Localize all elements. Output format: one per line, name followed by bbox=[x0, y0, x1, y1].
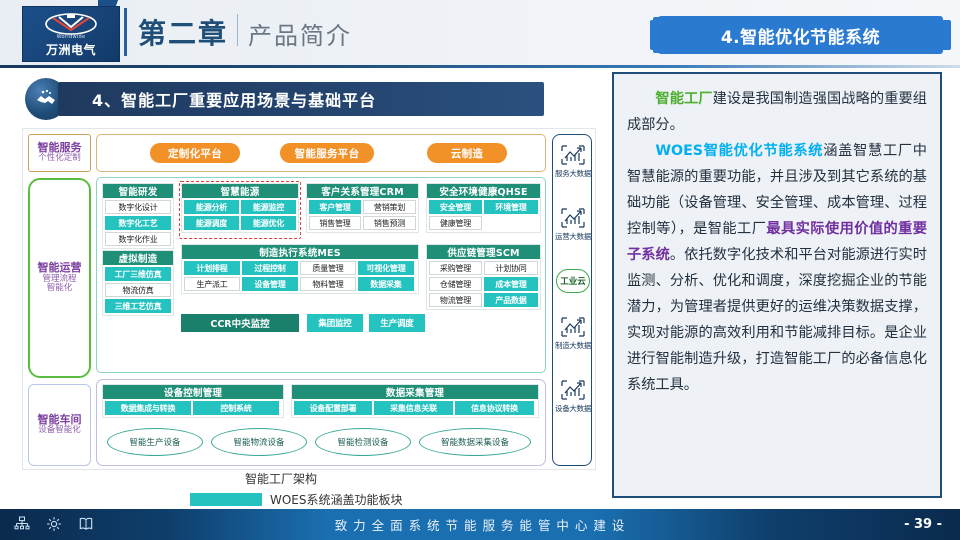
bigdata-label: 制造大数据 bbox=[555, 340, 591, 351]
section-title-label: 4、智能工厂重要应用场景与基础平台 bbox=[58, 87, 376, 111]
card-cell[interactable]: 营销策划 bbox=[363, 200, 416, 214]
equipment-oval-logistics[interactable]: 智能物流设备 bbox=[211, 428, 307, 456]
card-device-control: 设备控制管理 数据集成与转换 控制系统 bbox=[102, 384, 284, 418]
chart-bracket-icon bbox=[559, 143, 587, 167]
lane-subtitle-line2: 智能化 bbox=[47, 284, 73, 294]
bigdata-service[interactable]: 服务大数据 bbox=[553, 143, 593, 179]
card-cell[interactable]: 安全管理 bbox=[429, 200, 482, 214]
card-cell[interactable]: 能源分析 bbox=[184, 200, 239, 214]
chart-bracket-icon bbox=[559, 206, 587, 230]
bigdata-label: 设备大数据 bbox=[555, 403, 591, 414]
legend-label: WOES系统涵盖功能板块 bbox=[270, 491, 403, 508]
card-cell[interactable]: 信息协议转换 bbox=[455, 401, 534, 415]
section-title-bar: 4、智能工厂重要应用场景与基础平台 bbox=[58, 82, 544, 116]
smart-factory-architecture-diagram: 智能服务 个性化定制 智能运营 管理流程 智能化 智能车间 设备智能化 定制化平… bbox=[22, 128, 596, 470]
lane-smart-workshop: 智能车间 设备智能化 bbox=[28, 384, 91, 466]
card-cell[interactable]: 物流管理 bbox=[429, 293, 482, 307]
card-smart-energy: 智慧能源 能源分析 能源监控 能源调度 能源优化 bbox=[181, 183, 299, 233]
operation-lane-content: 智能研发 数字化设计 数字化工艺 数字化作业 智慧能源 能源分析 能源监控 能源… bbox=[96, 177, 546, 373]
card-title: 智能研发 bbox=[103, 184, 173, 198]
header-divider bbox=[124, 8, 127, 56]
topic-badge-label: 4.智能优化节能系统 bbox=[658, 16, 943, 54]
bigdata-equipment[interactable]: 设备大数据 bbox=[553, 378, 593, 414]
card-cell[interactable]: 工厂三维仿真 bbox=[105, 267, 171, 281]
card-qhse: 安全环境健康QHSE 安全管理 环境管理 健康管理 bbox=[426, 183, 541, 233]
card-cell[interactable]: 质量管理 bbox=[300, 261, 356, 275]
card-title: 客户关系管理CRM bbox=[307, 184, 418, 198]
card-cell[interactable]: 采集信息关联 bbox=[374, 401, 453, 415]
card-cell[interactable]: 计划排程 bbox=[184, 261, 240, 275]
card-cell[interactable]: 客户管理 bbox=[309, 200, 361, 214]
diagram-lane-column: 智能服务 个性化定制 智能运营 管理流程 智能化 智能车间 设备智能化 bbox=[28, 134, 91, 466]
card-cell[interactable]: 成本管理 bbox=[484, 277, 538, 291]
card-cell[interactable]: 产品数据 bbox=[484, 293, 538, 307]
equipment-oval-production[interactable]: 智能生产设备 bbox=[107, 428, 203, 456]
chapter-subtitle: 产品简介 bbox=[248, 16, 352, 51]
card-title: 制造执行系统MES bbox=[182, 245, 418, 259]
card-cell[interactable]: 数字化工艺 bbox=[105, 216, 171, 230]
card-cell[interactable]: 销售管理 bbox=[309, 216, 361, 230]
lane-smart-operation: 智能运营 管理流程 智能化 bbox=[28, 178, 91, 378]
card-cell[interactable]: 环境管理 bbox=[484, 200, 538, 214]
header-rule bbox=[0, 65, 960, 68]
card-cell[interactable]: 健康管理 bbox=[429, 216, 482, 230]
card-cell[interactable]: 能源调度 bbox=[184, 216, 239, 230]
page-header: Worldwide 万洲电气 第二章 产品简介 4.智能优化节能系统 bbox=[0, 0, 960, 68]
legend-swatch bbox=[190, 493, 262, 506]
panel-paragraph-2: WOES智能优化节能系统涵盖智慧工厂中智慧能源的重要功能，并且涉及到其它系统的基… bbox=[627, 138, 927, 398]
bigdata-operation[interactable]: 运营大数据 bbox=[553, 206, 593, 242]
card-data-acquisition: 数据采集管理 设备配置部署 采集信息关联 信息协议转换 bbox=[291, 384, 539, 418]
card-title: 智慧能源 bbox=[182, 184, 298, 198]
card-crm: 客户关系管理CRM 客户管理 营销策划 销售管理 销售预测 bbox=[306, 183, 419, 233]
bigdata-label: 服务大数据 bbox=[555, 168, 591, 179]
chart-bracket-icon bbox=[559, 315, 587, 339]
panel-paragraph-1: 智能工厂建设是我国制造强国战略的重要组成部分。 bbox=[627, 86, 927, 138]
card-title: 虚拟制造 bbox=[103, 251, 173, 265]
card-cell[interactable]: 物料管理 bbox=[300, 277, 356, 291]
diagram-legend: WOES系统涵盖功能板块 bbox=[190, 491, 403, 508]
diagram-caption: 智能工厂架构 bbox=[245, 470, 317, 487]
card-cell[interactable]: 物流仿真 bbox=[105, 283, 171, 297]
lane-title: 智能运营 bbox=[38, 262, 82, 275]
page-footer: 致 力 全 面 系 统 节 能 服 务 能 管 中 心 建 设 - 39 - bbox=[0, 509, 960, 540]
card-cell[interactable]: 数据采集 bbox=[358, 277, 414, 291]
cloud-icon[interactable]: 工业云 bbox=[556, 269, 590, 293]
description-panel: 智能工厂建设是我国制造强国战略的重要组成部分。 WOES智能优化节能系统涵盖智慧… bbox=[612, 72, 942, 498]
bigdata-column: 服务大数据 运营大数据 工业云 bbox=[552, 134, 592, 466]
card-title: 设备控制管理 bbox=[103, 385, 283, 399]
card-title: 供应链管理SCM bbox=[427, 245, 540, 259]
card-cell[interactable]: 设备管理 bbox=[242, 277, 298, 291]
card-cell[interactable]: 计划协同 bbox=[484, 261, 538, 275]
chapter-title: 第二章 bbox=[138, 12, 228, 52]
card-cell[interactable]: 能源优化 bbox=[241, 216, 296, 230]
chapter-separator bbox=[237, 14, 238, 46]
logo-chinese-name: 万洲电气 bbox=[46, 41, 96, 58]
ccr-title[interactable]: CCR中央监控 bbox=[181, 314, 299, 332]
card-scm: 供应链管理SCM 采购管理 计划协同 仓储管理 成本管理 物流管理 产品数据 bbox=[426, 244, 541, 310]
card-cell[interactable]: 设备配置部署 bbox=[294, 401, 372, 415]
card-cell[interactable]: 生产派工 bbox=[184, 277, 240, 291]
ccr-cell-group[interactable]: 集团监控 bbox=[307, 314, 363, 332]
panel-text-2b: 。依托数字化技术和平台对能源进行实时监测、分析、优化和调度，深度挖掘企业的节能潜… bbox=[627, 247, 927, 393]
platform-pill-cloud[interactable]: 云制造 bbox=[427, 143, 507, 163]
card-virtual-manufacturing: 虚拟制造 工厂三维仿真 物流仿真 三维工艺仿真 bbox=[102, 250, 174, 316]
card-cell[interactable]: 数据集成与转换 bbox=[105, 401, 191, 415]
card-title: 数据采集管理 bbox=[292, 385, 538, 399]
card-cell[interactable]: 可视化管理 bbox=[358, 261, 414, 275]
card-cell[interactable]: 销售预测 bbox=[363, 216, 416, 230]
card-cell[interactable]: 过程控制 bbox=[242, 261, 298, 275]
lane-smart-service: 智能服务 个性化定制 bbox=[28, 134, 91, 172]
bigdata-label: 运营大数据 bbox=[555, 231, 591, 242]
page-number: - 39 - bbox=[904, 509, 942, 540]
lane-subtitle: 个性化定制 bbox=[38, 154, 81, 164]
card-cell[interactable]: 仓储管理 bbox=[429, 277, 482, 291]
platform-pill-custom[interactable]: 定制化平台 bbox=[150, 143, 240, 163]
equipment-oval-data-collect[interactable]: 智能数据采集设备 bbox=[419, 428, 531, 456]
cloud-label: 工业云 bbox=[560, 275, 586, 287]
card-smart-rnd: 智能研发 数字化设计 数字化工艺 数字化作业 bbox=[102, 183, 174, 249]
panel-keyword-smart-factory: 智能工厂 bbox=[655, 91, 712, 107]
chart-bracket-icon bbox=[559, 378, 587, 402]
platform-pill-service[interactable]: 智能服务平台 bbox=[280, 143, 374, 163]
topic-badge: 4.智能优化节能系统 bbox=[658, 16, 943, 54]
card-cell[interactable]: 能源监控 bbox=[241, 200, 296, 214]
platform-row: 定制化平台 智能服务平台 云制造 bbox=[96, 134, 546, 172]
equipment-oval-inspection[interactable]: 智能检测设备 bbox=[315, 428, 411, 456]
bigdata-manufacturing[interactable]: 制造大数据 bbox=[553, 315, 593, 351]
card-cell[interactable]: 三维工艺仿真 bbox=[105, 299, 171, 313]
panel-keyword-woes: WOES智能优化节能系统 bbox=[655, 143, 823, 159]
footer-slogan: 致 力 全 面 系 统 节 能 服 务 能 管 中 心 建 设 bbox=[0, 509, 960, 540]
card-title: 安全环境健康QHSE bbox=[427, 184, 540, 198]
lane-subtitle: 设备智能化 bbox=[38, 426, 81, 436]
logo-mark-icon bbox=[45, 11, 97, 35]
card-cell[interactable]: 数字化设计 bbox=[105, 200, 171, 214]
card-mes: 制造执行系统MES 计划排程 过程控制 质量管理 可视化管理 生产派工 设备管理… bbox=[181, 244, 419, 294]
card-cell[interactable]: 控制系统 bbox=[193, 401, 279, 415]
workshop-lane-content: 设备控制管理 数据集成与转换 控制系统 数据采集管理 设备配置部署 采集信息关联… bbox=[96, 379, 546, 466]
ccr-cell-dispatch[interactable]: 生产调度 bbox=[369, 314, 425, 332]
company-logo: Worldwide 万洲电气 bbox=[22, 6, 120, 62]
card-cell[interactable]: 采购管理 bbox=[429, 261, 482, 275]
card-cell[interactable]: 数字化作业 bbox=[105, 232, 171, 246]
